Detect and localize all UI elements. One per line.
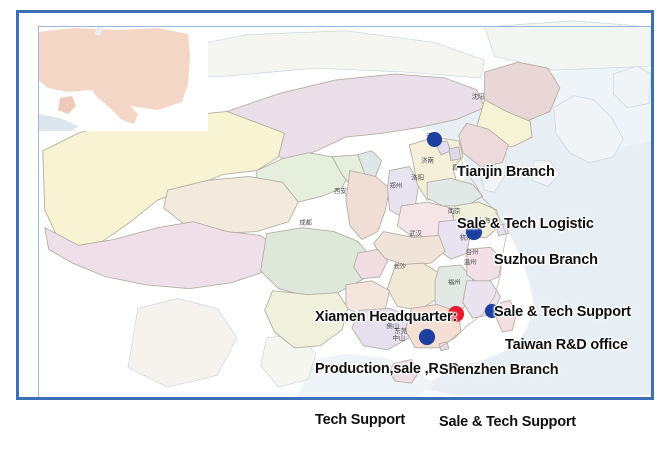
city-name: 济南 [421,156,434,165]
city-name: 沈阳 [472,92,485,101]
xiamen-label-line2: Production,sale ,R&D [315,361,459,378]
tianjin-marker[interactable] [427,132,442,147]
shenzhen-label-line2: Sale & Tech Support [439,414,576,431]
shenzhen-label: Shenzhen Branch Sale & Tech Support [439,328,576,465]
city-name: 西安 [334,186,347,195]
city-name: 武汉 [409,229,422,238]
suzhou-label-line1: Suzhou Branch [494,252,631,269]
tianjin-label-line1: Tianjin Branch [457,164,594,181]
xiamen-label-line1: Xiamen Headquarter: [315,309,459,326]
shenzhen-label-line1: Shenzhen Branch [439,362,576,379]
xiamen-label: Xiamen Headquarter: Production,sale ,R&D… [315,275,459,463]
city-name: 洛阳 [411,172,424,181]
city-name: 长沙 [393,261,406,270]
city-name: 成都 [299,218,312,227]
city-name: 郑州 [389,181,402,189]
screenshot-root: 沈阳天津济南青岛洛阳西安郑州成都武汉南京苏州上海杭州台州温州长沙福州广州佛山东莞… [0,0,670,416]
europe-inset [38,26,208,131]
xiamen-label-line3: Tech Support [315,412,459,429]
